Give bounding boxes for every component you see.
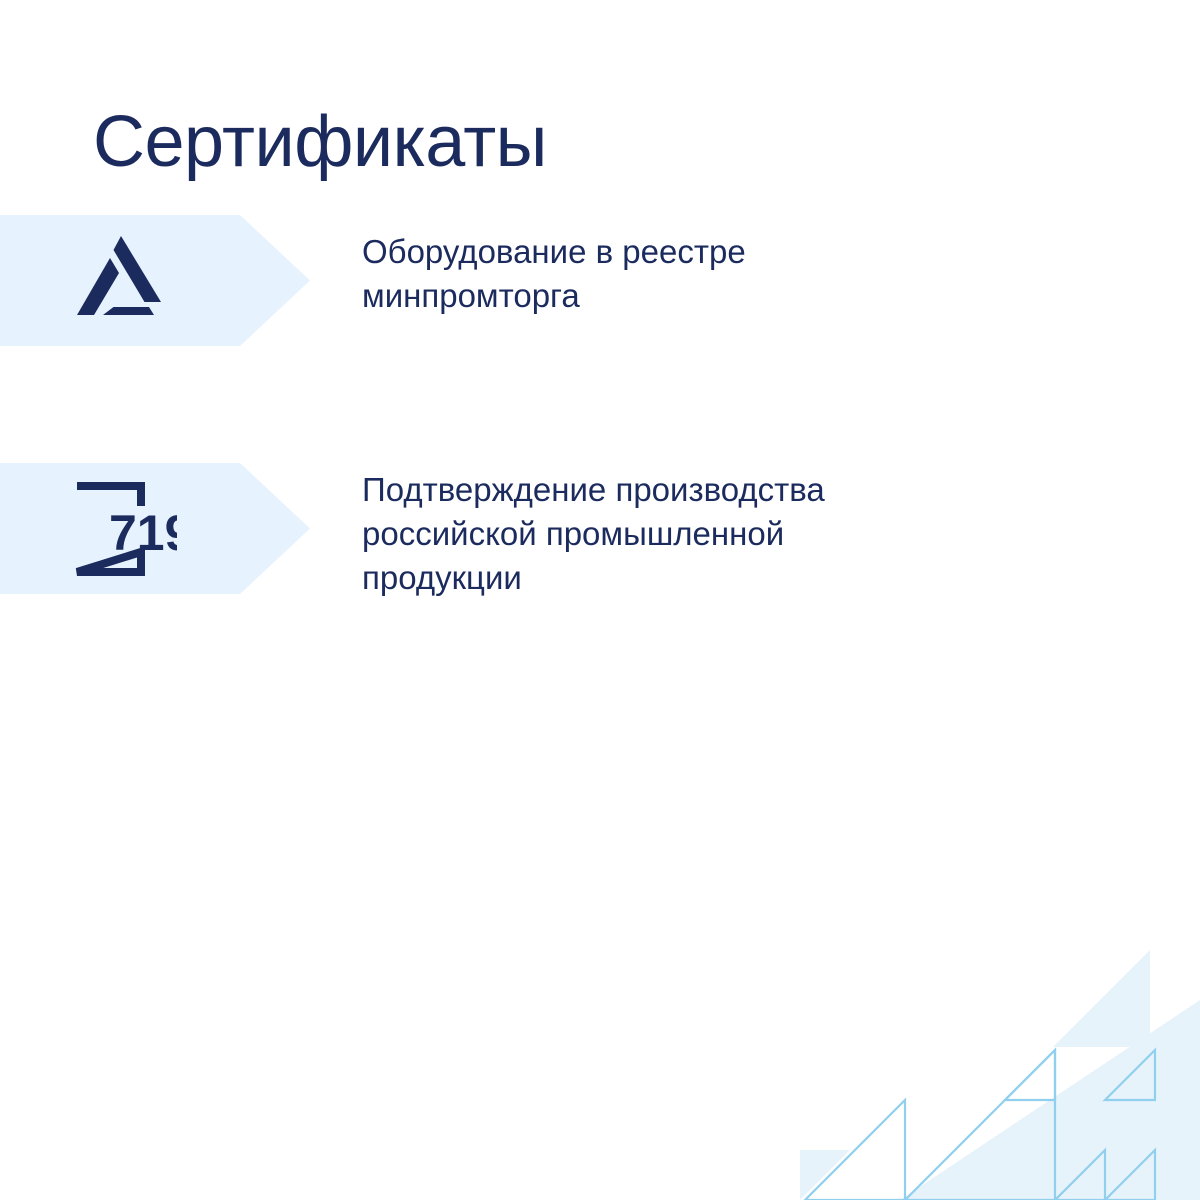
certificate-text-line: Оборудование в реестре: [362, 230, 746, 274]
document-719-icon: 719: [65, 480, 177, 578]
slide-canvas: Сертификаты Оборудование в реестре минпр…: [0, 0, 1200, 1200]
document-719-label: 719: [109, 505, 177, 561]
certificate-text: Оборудование в реестре минпромторга: [362, 230, 746, 318]
decoration-filled-shapes: [800, 950, 1200, 1200]
certificate-item: Оборудование в реестре минпромторга: [0, 215, 1200, 346]
decoration-outlined-triangles: [805, 1050, 1155, 1200]
minpromtorg-triangle-logo-icon: [73, 236, 169, 326]
certificate-text-line: Подтверждение производства: [362, 468, 825, 512]
certificate-text-line: российской промышленной: [362, 512, 825, 556]
certificate-text-line: минпромторга: [362, 274, 746, 318]
certificate-text-line: продукции: [362, 556, 825, 600]
certificate-badge: 719: [0, 463, 310, 594]
page-title: Сертификаты: [93, 105, 547, 181]
certificate-text: Подтверждение производства российской пр…: [362, 468, 825, 600]
triangle-corner-pattern: [800, 900, 1200, 1200]
certificate-badge: [0, 215, 310, 346]
certificate-item: 719 Подтверждение производства российско…: [0, 463, 1200, 600]
